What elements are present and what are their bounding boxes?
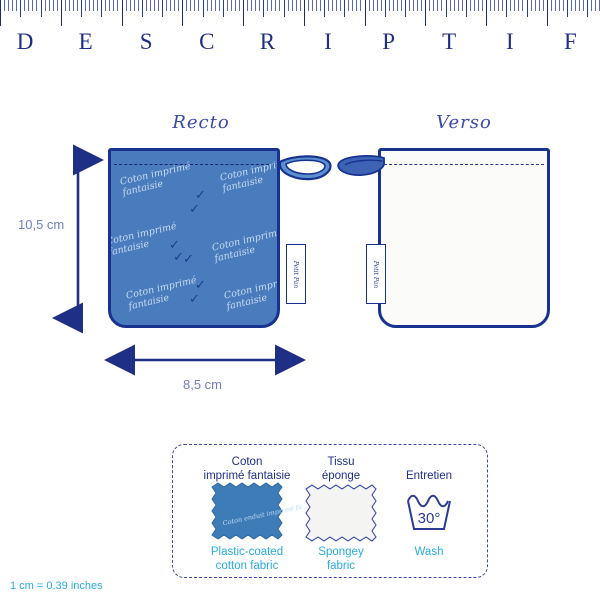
ruler-tick bbox=[130, 0, 131, 11]
ruler-tick bbox=[259, 0, 260, 11]
ruler-tick bbox=[316, 0, 317, 11]
ruler-tick bbox=[41, 0, 42, 17]
ruler-tick bbox=[101, 0, 102, 17]
width-dimension-label: 8,5 cm bbox=[183, 377, 222, 392]
ruler-tick bbox=[462, 0, 463, 11]
verso-hanging-loop bbox=[336, 152, 386, 182]
ruler-tick bbox=[166, 0, 167, 11]
ruler-tick bbox=[174, 0, 175, 11]
ruler-letter: E bbox=[79, 26, 93, 58]
ruler-tick bbox=[304, 0, 305, 26]
ruler-tick bbox=[89, 0, 90, 11]
ruler-tick bbox=[138, 0, 139, 11]
ruler-letter: I bbox=[324, 26, 332, 58]
ruler-tick bbox=[45, 0, 46, 11]
ruler-tick bbox=[583, 0, 584, 11]
ruler-tick bbox=[109, 0, 110, 11]
verso-brand-tag: Petit Pan bbox=[366, 244, 386, 304]
ruler-tick bbox=[203, 0, 204, 17]
legend-column-care: Entretien 30° Wash bbox=[369, 445, 489, 559]
ruler-tick bbox=[296, 0, 297, 11]
ruler-tick bbox=[279, 0, 280, 11]
ruler-tick bbox=[81, 0, 82, 17]
ruler-tick bbox=[219, 0, 220, 11]
ruler-tick bbox=[24, 0, 25, 11]
ruler-tick bbox=[450, 0, 451, 11]
ruler-tick bbox=[458, 0, 459, 11]
bird-motif-icon: ✓ bbox=[189, 203, 200, 216]
ruler-tick bbox=[8, 0, 9, 11]
ruler-tick bbox=[251, 0, 252, 11]
verso-title: Verso bbox=[436, 112, 492, 133]
ruler-tick bbox=[441, 0, 442, 11]
ruler-tick bbox=[373, 0, 374, 11]
ruler-tick bbox=[247, 0, 248, 11]
ruler-tick bbox=[340, 0, 341, 11]
ruler-title-letters: DESCRIPTIF bbox=[0, 26, 600, 58]
ruler-letter: P bbox=[382, 26, 395, 58]
ruler-tick bbox=[263, 0, 264, 17]
ruler-tick bbox=[510, 0, 511, 11]
height-dimension-label: 10,5 cm bbox=[18, 217, 64, 232]
ruler-header: DESCRIPTIF bbox=[0, 0, 600, 58]
ruler-tick bbox=[356, 0, 357, 11]
ruler-tick bbox=[275, 0, 276, 11]
ruler-tick bbox=[365, 0, 366, 26]
ruler-tick bbox=[478, 0, 479, 11]
ruler-tick bbox=[486, 0, 487, 26]
ruler-tick bbox=[587, 0, 588, 17]
ruler-tick bbox=[543, 0, 544, 11]
ruler-tick bbox=[57, 0, 58, 11]
ruler-tick bbox=[514, 0, 515, 11]
bird-motif-icon: ✓ bbox=[183, 253, 194, 266]
ruler-tick bbox=[429, 0, 430, 11]
ruler-tick bbox=[36, 0, 37, 11]
ruler-tick bbox=[12, 0, 13, 11]
ruler-tick bbox=[466, 0, 467, 17]
bird-motif-icon: ✓ bbox=[195, 279, 206, 292]
ruler-tick bbox=[194, 0, 195, 11]
materials-legend: Coton imprimé fantaisie Coton enduit imp… bbox=[172, 444, 488, 578]
ruler-tick bbox=[567, 0, 568, 17]
ruler-tick bbox=[320, 0, 321, 11]
ruler-tick bbox=[385, 0, 386, 17]
ruler-tick bbox=[417, 0, 418, 11]
ruler-tick bbox=[531, 0, 532, 11]
ruler-tick bbox=[595, 0, 596, 11]
ruler-tick bbox=[178, 0, 179, 11]
legend-care-caption: Wash bbox=[369, 545, 489, 559]
verso-bag-illustration bbox=[378, 148, 550, 328]
ruler-tick bbox=[490, 0, 491, 11]
ruler-letter: D bbox=[17, 26, 34, 58]
verso-seam-dashed-line bbox=[384, 164, 544, 165]
ruler-tick bbox=[425, 0, 426, 26]
ruler-tick bbox=[547, 0, 548, 26]
ruler-tick bbox=[397, 0, 398, 11]
ruler-tick bbox=[389, 0, 390, 11]
ruler-tick bbox=[113, 0, 114, 11]
ruler-tick bbox=[20, 0, 21, 17]
ruler-tick bbox=[227, 0, 228, 11]
ruler-tick bbox=[470, 0, 471, 11]
ruler-tick bbox=[551, 0, 552, 11]
ruler-tick bbox=[105, 0, 106, 11]
ruler-tick bbox=[162, 0, 163, 17]
ruler-tick bbox=[28, 0, 29, 11]
bird-motif-icon: ✓ bbox=[195, 189, 206, 202]
ruler-tick bbox=[518, 0, 519, 11]
ruler-tick bbox=[312, 0, 313, 11]
ruler-tick bbox=[474, 0, 475, 11]
ruler-tick bbox=[16, 0, 17, 11]
svg-text:30°: 30° bbox=[418, 510, 441, 527]
ruler-tick bbox=[97, 0, 98, 11]
ruler-tick bbox=[579, 0, 580, 11]
ruler-tick bbox=[231, 0, 232, 11]
recto-bag-body: Coton imprimé fantaisieCoton imprimé fan… bbox=[108, 148, 280, 328]
ruler-tick bbox=[506, 0, 507, 17]
ruler-tick bbox=[73, 0, 74, 11]
ruler-tick bbox=[150, 0, 151, 11]
fabric-pattern-text: Coton imprimé fantaisie bbox=[211, 224, 280, 264]
ruler-tick bbox=[186, 0, 187, 11]
ruler-tick bbox=[332, 0, 333, 11]
ruler-tick bbox=[271, 0, 272, 11]
ruler-tick bbox=[369, 0, 370, 11]
ruler-letter: I bbox=[506, 26, 514, 58]
ruler-tick bbox=[146, 0, 147, 11]
ruler-tick bbox=[235, 0, 236, 11]
legend-care-title: Entretien bbox=[369, 469, 489, 483]
ruler-tick bbox=[324, 0, 325, 17]
ruler-tick bbox=[53, 0, 54, 11]
fabric-pattern-text: Coton imprimé fantaisie bbox=[223, 272, 280, 312]
ruler-tick bbox=[211, 0, 212, 11]
ruler-tick bbox=[223, 0, 224, 17]
ruler-tick bbox=[308, 0, 309, 11]
ruler-tick bbox=[575, 0, 576, 11]
ruler-tick bbox=[539, 0, 540, 11]
ruler-tick bbox=[122, 0, 123, 26]
ruler-tick bbox=[134, 0, 135, 11]
ruler-tick bbox=[4, 0, 5, 11]
ruler-tick bbox=[328, 0, 329, 11]
ruler-tick bbox=[215, 0, 216, 11]
fabric-pattern-text: Coton imprimé fantaisie bbox=[219, 154, 280, 194]
ruler-tick bbox=[142, 0, 143, 17]
verso-bag-body bbox=[378, 148, 550, 328]
printed-cotton-swatch: Coton enduit imprimé fa bbox=[208, 481, 286, 548]
ruler-letter: C bbox=[199, 26, 214, 58]
ruler-letter: S bbox=[140, 26, 153, 58]
ruler-letter: R bbox=[260, 26, 275, 58]
ruler-tick bbox=[243, 0, 244, 26]
ruler-tick bbox=[571, 0, 572, 11]
recto-brand-tag-text: Petit Pan bbox=[293, 260, 300, 287]
ruler-tick bbox=[401, 0, 402, 11]
ruler-letter: F bbox=[564, 26, 577, 58]
ruler-tick bbox=[300, 0, 301, 11]
ruler-tick bbox=[437, 0, 438, 11]
ruler-tick bbox=[522, 0, 523, 11]
ruler-tick bbox=[336, 0, 337, 11]
ruler-tick bbox=[377, 0, 378, 11]
ruler-tick bbox=[117, 0, 118, 11]
ruler-tick bbox=[49, 0, 50, 11]
verso-brand-tag-text: Petit Pan bbox=[373, 260, 380, 287]
recto-hanging-loop bbox=[278, 152, 334, 186]
ruler-tick bbox=[170, 0, 171, 11]
ruler-tick bbox=[267, 0, 268, 11]
ruler-tick bbox=[126, 0, 127, 11]
ruler-tick bbox=[288, 0, 289, 11]
ruler-tick bbox=[77, 0, 78, 11]
ruler-tick bbox=[344, 0, 345, 17]
ruler-tick bbox=[190, 0, 191, 11]
ruler-tick bbox=[292, 0, 293, 11]
ruler-tick bbox=[502, 0, 503, 11]
ruler-tick bbox=[69, 0, 70, 11]
ruler-tick bbox=[494, 0, 495, 11]
ruler-tick bbox=[352, 0, 353, 11]
bird-motif-icon: ✓ bbox=[189, 293, 200, 306]
recto-brand-tag: Petit Pan bbox=[286, 244, 306, 304]
ruler-tick bbox=[154, 0, 155, 11]
ruler-tick bbox=[0, 0, 1, 26]
ruler-tick bbox=[85, 0, 86, 11]
ruler-tick bbox=[158, 0, 159, 11]
ruler-tick bbox=[535, 0, 536, 11]
legend-sponge-caption-line2: fabric bbox=[281, 559, 401, 573]
ruler-tick bbox=[409, 0, 410, 11]
ruler-letter: T bbox=[442, 26, 456, 58]
ruler-tick bbox=[381, 0, 382, 11]
ruler-tick bbox=[348, 0, 349, 11]
ruler-tick bbox=[255, 0, 256, 11]
recto-title: Recto bbox=[172, 112, 229, 133]
ruler-tick bbox=[413, 0, 414, 11]
ruler-tick bbox=[563, 0, 564, 11]
ruler-tick bbox=[405, 0, 406, 17]
ruler-tick bbox=[393, 0, 394, 11]
ruler-tick bbox=[527, 0, 528, 17]
ruler-tick bbox=[198, 0, 199, 11]
legend-care-icon-wrap: 30° bbox=[369, 483, 489, 545]
wash-30-icon: 30° bbox=[399, 489, 459, 540]
recto-bag-illustration: Coton imprimé fantaisieCoton imprimé fan… bbox=[108, 148, 280, 328]
ruler-tick bbox=[207, 0, 208, 11]
ruler-tick bbox=[454, 0, 455, 11]
ruler-tick bbox=[498, 0, 499, 11]
ruler-tick bbox=[482, 0, 483, 11]
ruler-tick bbox=[61, 0, 62, 26]
unit-conversion-note: 1 cm = 0.39 inches bbox=[10, 580, 103, 592]
ruler-tick bbox=[239, 0, 240, 11]
ruler-tick bbox=[65, 0, 66, 11]
ruler-tick bbox=[182, 0, 183, 26]
ruler-tick bbox=[93, 0, 94, 11]
ruler-tick bbox=[446, 0, 447, 17]
ruler-tick bbox=[433, 0, 434, 11]
ruler-tick bbox=[591, 0, 592, 11]
ruler-tick bbox=[421, 0, 422, 11]
ruler-tick bbox=[284, 0, 285, 17]
ruler-tick bbox=[32, 0, 33, 11]
ruler-tick bbox=[360, 0, 361, 11]
ruler-tick bbox=[559, 0, 560, 11]
ruler-tick bbox=[555, 0, 556, 11]
